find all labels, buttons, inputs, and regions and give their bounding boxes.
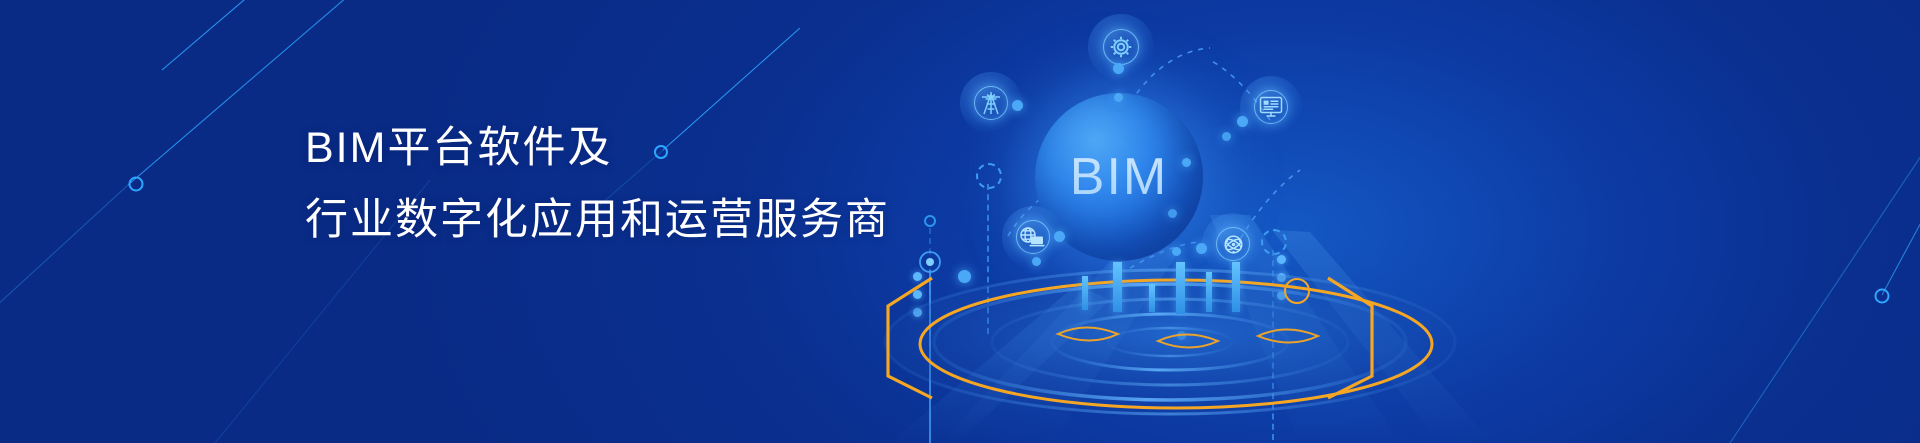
deco-marker-circle [1876,290,1889,303]
headline-line-1: BIM平台软件及 [305,112,890,184]
data-bar [1232,262,1240,312]
sphere-surface-dot [1182,158,1191,167]
power-tower-node-dot [1012,100,1023,111]
globe-laptop-node-dot [1054,231,1065,242]
banner-headline: BIM平台软件及 行业数字化应用和运营服务商 [305,112,890,256]
ring-dashed-segments [1040,310,1400,370]
monitor-node-dot [1237,116,1248,127]
orange-accent-circle [1284,278,1310,304]
monitor-icon [1240,76,1302,138]
deco-marker-circle [130,178,143,191]
atom-network-node-dot-small [1168,209,1177,218]
dashed-stem-ring [976,163,1002,189]
data-bar [1149,284,1155,312]
monitor-node-dot-small [1222,132,1231,141]
sphere-surface-dot [1114,93,1123,102]
headline-line-2: 行业数字化应用和运营服务商 [305,184,890,256]
hero-banner: BIM平台软件及 行业数字化应用和运营服务商 [0,0,1920,443]
data-bar [1176,262,1185,314]
data-bar [1113,262,1122,312]
data-bar [1206,272,1212,312]
gear-node-dot [1113,63,1124,74]
data-bar [1082,276,1088,310]
